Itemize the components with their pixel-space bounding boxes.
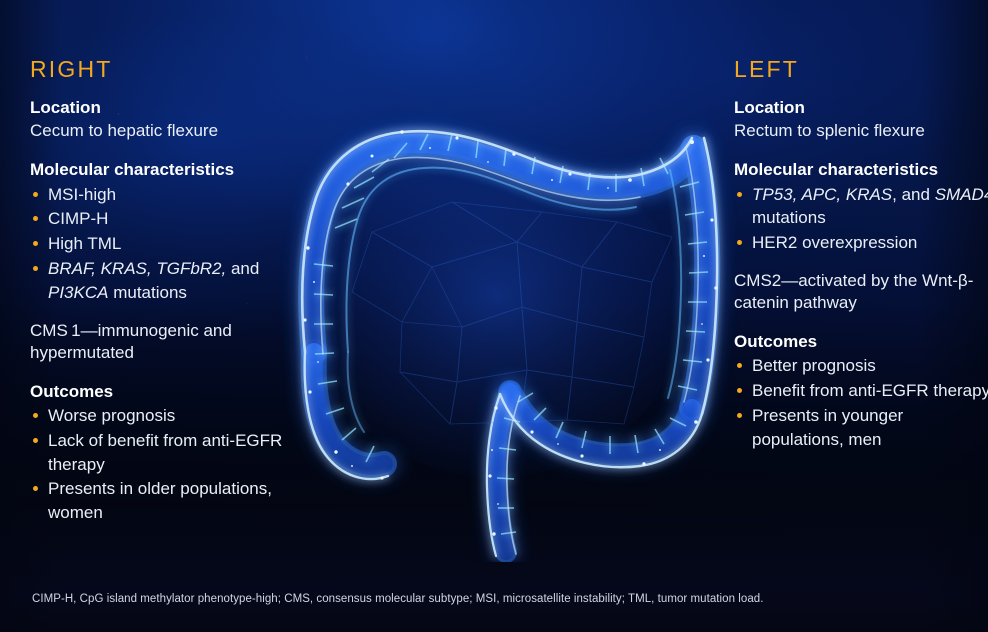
infographic-canvas: RIGHT LocationCecum to hepatic flexureMo… bbox=[0, 0, 988, 632]
bullet-item: Better prognosis bbox=[734, 354, 988, 378]
content-block: Molecular characteristicsMSI-highCIMP-HH… bbox=[30, 159, 292, 304]
bullet-item: CIMP-H bbox=[30, 207, 292, 231]
gene-name: SMAD4 bbox=[935, 185, 988, 204]
colon-wireframe-svg bbox=[252, 52, 742, 562]
colon-illustration bbox=[252, 52, 742, 562]
section-heading: Location bbox=[30, 97, 292, 118]
bullet-item: Benefit from anti-EGFR therapy bbox=[734, 379, 988, 403]
left-sided-blocks: LocationRectum to splenic flexureMolecul… bbox=[734, 97, 988, 452]
section-heading: Molecular characteristics bbox=[734, 159, 988, 180]
content-block: CMS2—activated by the Wnt-β-catenin path… bbox=[734, 270, 988, 314]
gene-name: PI3KCA bbox=[48, 283, 108, 302]
abbreviations-footnote: CIMP-H, CpG island methylator phenotype-… bbox=[32, 592, 763, 607]
bullet-list: Worse prognosisLack of benefit from anti… bbox=[30, 404, 292, 525]
right-sided-column: RIGHT LocationCecum to hepatic flexureMo… bbox=[30, 58, 292, 526]
bullet-item: Lack of benefit from anti-EGFR therapy bbox=[30, 429, 292, 477]
left-side-label: LEFT bbox=[734, 58, 988, 81]
content-block: OutcomesWorse prognosisLack of benefit f… bbox=[30, 381, 292, 525]
content-block: Molecular characteristicsTP53, APC, KRAS… bbox=[734, 159, 988, 255]
bullet-item: BRAF, KRAS, TGFbR2, and PI3KCA mutations bbox=[30, 257, 292, 305]
gene-name: BRAF, KRAS, TGFbR2, bbox=[48, 259, 226, 278]
section-heading: Molecular characteristics bbox=[30, 159, 292, 180]
bullet-item: MSI-high bbox=[30, 183, 292, 207]
body-text: Rectum to splenic flexure bbox=[734, 120, 988, 142]
right-side-label: RIGHT bbox=[30, 58, 292, 81]
bullet-item: Worse prognosis bbox=[30, 404, 292, 428]
body-text: Cecum to hepatic flexure bbox=[30, 120, 292, 142]
bullet-item: TP53, APC, KRAS, and SMAD4 mutations bbox=[734, 183, 988, 231]
bullet-list: TP53, APC, KRAS, and SMAD4 mutationsHER2… bbox=[734, 183, 988, 255]
gene-name: TP53, APC, KRAS bbox=[752, 185, 892, 204]
section-heading: Outcomes bbox=[30, 381, 292, 402]
bullet-list: MSI-highCIMP-HHigh TMLBRAF, KRAS, TGFbR2… bbox=[30, 183, 292, 305]
content-block: LocationRectum to splenic flexure bbox=[734, 97, 988, 142]
body-text: CMS2—activated by the Wnt-β-catenin path… bbox=[734, 270, 988, 314]
bullet-item: Presents in older populations, women bbox=[30, 477, 292, 525]
bullet-item: HER2 overexpression bbox=[734, 231, 988, 255]
right-sided-blocks: LocationCecum to hepatic flexureMolecula… bbox=[30, 97, 292, 525]
bullet-item: Presents in younger populations, men bbox=[734, 404, 988, 452]
body-text: CMS 1—immunogenic and hypermutated bbox=[30, 320, 292, 364]
bullet-list: Better prognosisBenefit from anti-EGFR t… bbox=[734, 354, 988, 451]
section-heading: Location bbox=[734, 97, 988, 118]
content-block: OutcomesBetter prognosisBenefit from ant… bbox=[734, 331, 988, 451]
content-block: LocationCecum to hepatic flexure bbox=[30, 97, 292, 142]
left-sided-column: LEFT LocationRectum to splenic flexureMo… bbox=[734, 58, 988, 453]
content-block: CMS 1—immunogenic and hypermutated bbox=[30, 320, 292, 364]
section-heading: Outcomes bbox=[734, 331, 988, 352]
bullet-item: High TML bbox=[30, 232, 292, 256]
